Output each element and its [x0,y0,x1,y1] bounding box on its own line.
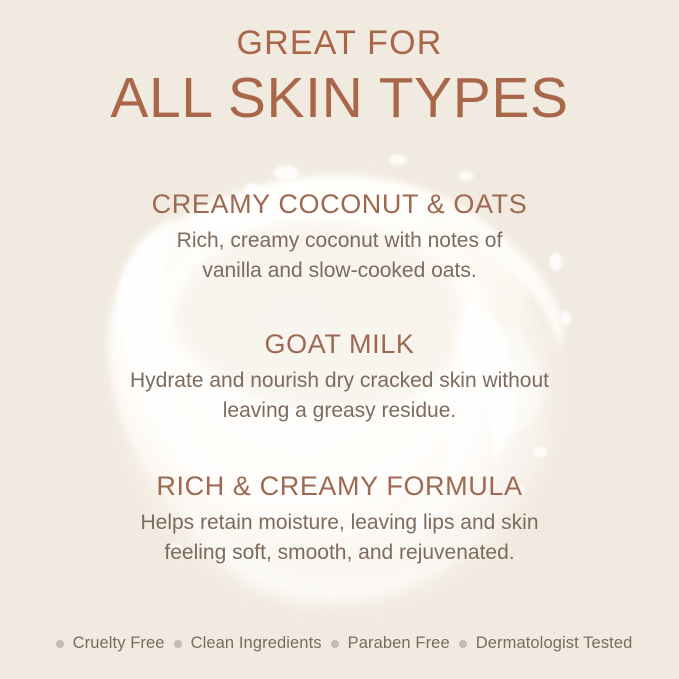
claims-bar: Cruelty Free Clean Ingredients Paraben F… [0,634,679,653]
bullet-dot-icon [56,640,64,648]
feature-title: RICH & CREAMY FORMULA [0,470,679,502]
claim-dermatologist-tested: Dermatologist Tested [476,634,633,653]
feature-description-line: feeling soft, smooth, and rejuvenated. [90,538,590,568]
bullet-dot-icon [459,640,467,648]
bullet-dot-icon [174,640,182,648]
feature-creamy-coconut-and-oats: CREAMY COCONUT & OATS Rich, creamy cocon… [0,188,679,286]
claim-clean-ingredients: Clean Ingredients [191,634,322,653]
feature-description: Hydrate and nourish dry cracked skin wit… [90,366,590,426]
headline-line-2: ALL SKIN TYPES [0,65,679,132]
claim-paraben-free: Paraben Free [348,634,450,653]
bullet-dot-icon [331,640,339,648]
headline-line-1: GREAT FOR [0,24,679,63]
feature-description-line: Rich, creamy coconut with notes of [90,226,590,256]
feature-description-line: leaving a greasy residue. [90,396,590,426]
feature-description: Helps retain moisture, leaving lips and … [90,508,590,568]
feature-list: CREAMY COCONUT & OATS Rich, creamy cocon… [0,188,679,568]
feature-title: CREAMY COCONUT & OATS [0,188,679,220]
product-benefits-infographic: GREAT FOR ALL SKIN TYPES CREAMY COCONUT … [0,0,679,679]
claim-cruelty-free: Cruelty Free [73,634,165,653]
feature-description-line: Hydrate and nourish dry cracked skin wit… [90,366,590,396]
feature-description: Rich, creamy coconut with notes of vanil… [90,226,590,286]
feature-rich-and-creamy-formula: RICH & CREAMY FORMULA Helps retain moist… [0,470,679,568]
feature-description-line: Helps retain moisture, leaving lips and … [90,508,590,538]
headline-block: GREAT FOR ALL SKIN TYPES [0,24,679,132]
feature-title: GOAT MILK [0,328,679,360]
feature-description-line: vanilla and slow-cooked oats. [90,256,590,286]
feature-goat-milk: GOAT MILK Hydrate and nourish dry cracke… [0,328,679,426]
